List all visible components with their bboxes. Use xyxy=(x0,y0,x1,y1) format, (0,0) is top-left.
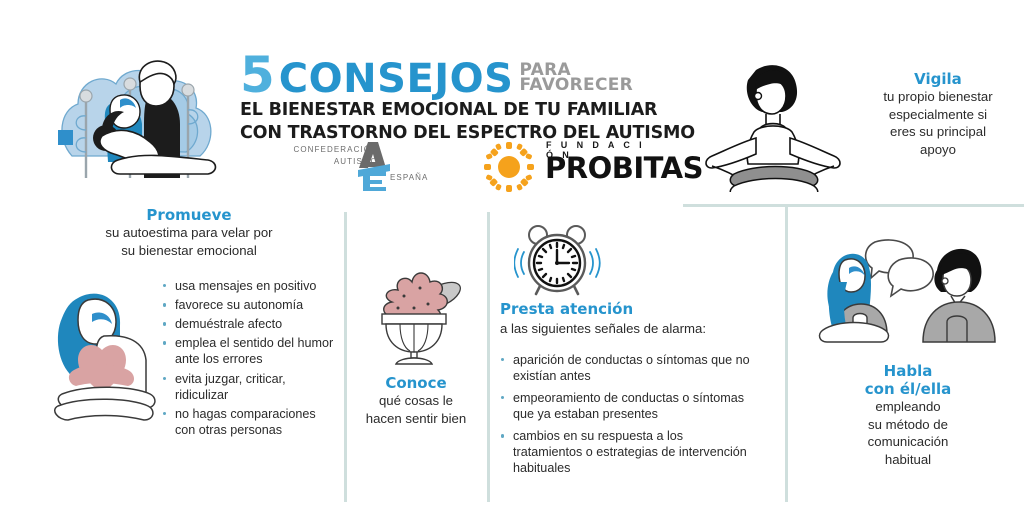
tip-presta-title: Presta atención xyxy=(500,300,778,318)
probitas-logo: F U N D A C I Ó N PROBITAS xyxy=(484,138,659,192)
tip-vigila: Vigila tu propio bienestar especialmente… xyxy=(676,52,1024,200)
tip-promueve: Promueve su autoestima para velar por su… xyxy=(44,206,334,259)
tip-presta-heading: Presta atención a las siguientes señales… xyxy=(500,300,778,338)
tip-vigila-line-1: tu propio bienestar xyxy=(858,88,1018,106)
tip-presta-subtitle: a las siguientes señales de alarma: xyxy=(500,320,778,338)
tip-habla-line-2: su método de xyxy=(796,416,1020,434)
page-title: 5 CONSEJOS PARA FAVORECER EL BIENESTAR E… xyxy=(240,52,660,145)
person-meditating-illustration xyxy=(698,56,848,192)
divider-vertical-1 xyxy=(344,212,347,502)
tip-vigila-title: Vigila xyxy=(858,70,1018,88)
divider-vertical-3 xyxy=(785,204,788,502)
list-item: evita juzgar, criticar, ridiculizar xyxy=(162,371,334,403)
family-reading-together-illustration xyxy=(58,38,248,198)
divider-vertical-2 xyxy=(487,212,490,502)
person-hugging-heart-illustration xyxy=(48,284,160,424)
headline-para: PARA FAVORECER xyxy=(519,63,660,98)
list-item: cambios en su respuesta a los tratamient… xyxy=(500,428,755,476)
list-item: favorece su autonomía xyxy=(162,297,334,313)
tip-habla-line-3: comunicación xyxy=(796,433,1020,451)
divider-horizontal-top-right xyxy=(683,204,1024,207)
tip-promueve-title: Promueve xyxy=(44,206,334,224)
tip-conoce-sub-1: qué cosas le xyxy=(352,392,480,410)
headline-number: 5 xyxy=(240,52,273,98)
headline-line-2: EL BIENESTAR EMOCIONAL DE TU FAMILIAR xyxy=(240,100,660,121)
tip-conoce: Conoce qué cosas le hacen sentir bien xyxy=(352,258,480,427)
tip-promueve-sub-2: su bienestar emocional xyxy=(44,242,334,260)
tip-habla-text: Habla con él/ella empleando su método de… xyxy=(796,362,1020,469)
probitas-sun-icon xyxy=(484,142,534,192)
list-item: empeoramiento de conductas o síntomas qu… xyxy=(500,390,755,422)
tip-conoce-sub-2: hacen sentir bien xyxy=(352,410,480,428)
two-people-talking-illustration xyxy=(813,238,1003,350)
tip-promueve-heading: Promueve su autoestima para velar por su… xyxy=(44,206,334,259)
infographic-canvas: 5 CONSEJOS PARA FAVORECER EL BIENESTAR E… xyxy=(0,0,1024,512)
tip-conoce-text: Conoce qué cosas le hacen sentir bien xyxy=(352,374,480,427)
tip-habla: Habla con él/ella empleando su método de… xyxy=(796,238,1020,469)
list-item: usa mensajes en positivo xyxy=(162,278,334,294)
tip-promueve-sub-1: su autoestima para velar por xyxy=(44,224,334,242)
headline-word: CONSEJOS xyxy=(279,61,514,98)
headline-row-1: 5 CONSEJOS PARA FAVORECER xyxy=(240,52,660,98)
autismo-espana-monogram-icon xyxy=(346,140,398,192)
tip-presta-bullets: aparición de conductas o síntomas que no… xyxy=(500,352,755,477)
tip-vigila-line-4: apoyo xyxy=(858,141,1018,159)
tip-promueve-bullets: usa mensajes en positivo favorece su aut… xyxy=(162,278,334,441)
tip-habla-line-4: habitual xyxy=(796,451,1020,469)
list-item: emplea el sentido del humor ante los err… xyxy=(162,335,334,367)
tip-habla-title-1: Habla xyxy=(796,362,1020,380)
list-item: aparición de conductas o síntomas que no… xyxy=(500,352,755,384)
autismo-espana-logo: CONFEDERACIÓN AUTISMO ESPAÑA xyxy=(284,140,444,192)
tip-presta-atencion: Presta atención a las siguientes señales… xyxy=(500,222,778,479)
tip-habla-line-1: empleando xyxy=(796,398,1020,416)
ice-cream-sundae-illustration xyxy=(352,258,480,366)
alarm-clock-illustration xyxy=(514,222,604,298)
tip-conoce-title: Conoce xyxy=(352,374,480,392)
tip-habla-title-2: con él/ella xyxy=(796,380,1020,398)
tip-vigila-line-2: especialmente si xyxy=(858,106,1018,124)
list-item: demuéstrale afecto xyxy=(162,316,334,332)
list-item: no hagas comparaciones con otras persona… xyxy=(162,406,334,438)
tip-vigila-line-3: eres su principal xyxy=(858,123,1018,141)
tip-vigila-text: Vigila tu propio bienestar especialmente… xyxy=(858,70,1018,159)
